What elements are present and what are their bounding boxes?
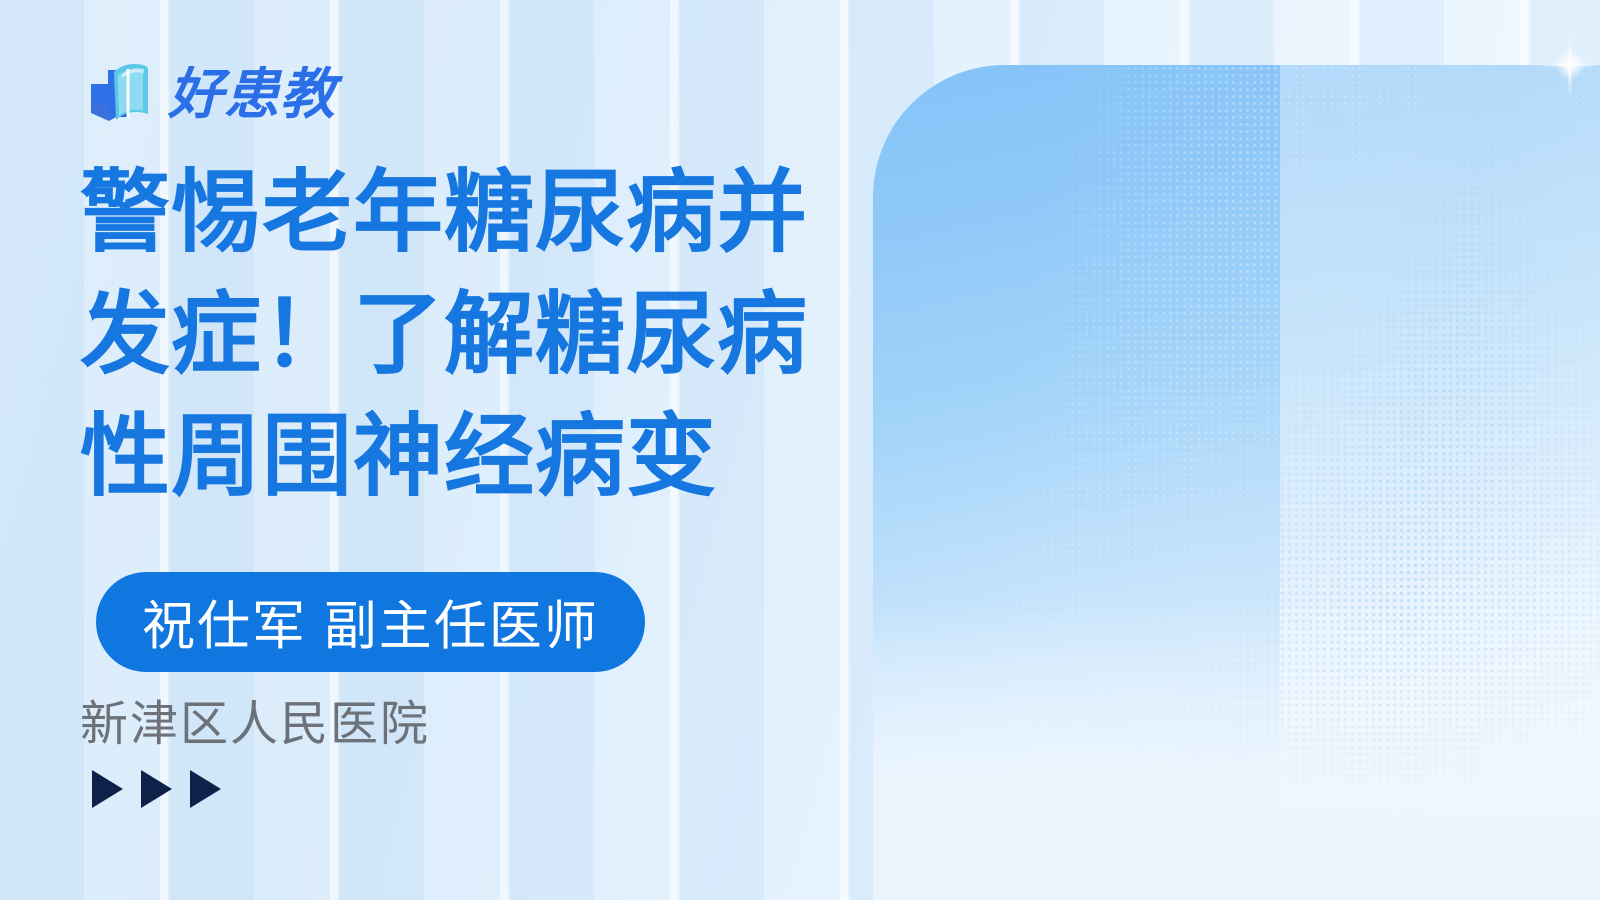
play-arrow-3-icon — [190, 770, 221, 808]
brand-lockup[interactable]: 好患教 — [88, 56, 336, 132]
play-arrows-group — [92, 770, 221, 808]
speaker-badge-label: 祝仕军 副主任医师 — [142, 584, 599, 660]
brand-name: 好患教 — [168, 67, 336, 122]
play-arrow-2-icon — [141, 770, 172, 808]
page-title-line-3: 性周围神经病变 — [80, 396, 880, 518]
speaker-badge[interactable]: 祝仕军 副主任医师 — [96, 572, 645, 672]
medical-cross-book-icon — [88, 56, 156, 132]
decorative-blue-panel — [873, 65, 1600, 900]
content-column: 好患教 警惕老年糖尿病并 发症！了解糖尿病 性周围神经病变 祝仕军 副主任医师 … — [0, 0, 900, 900]
page-title-line-1: 警惕老年糖尿病并 — [80, 152, 880, 274]
hospital-name: 新津区人民医院 — [80, 684, 430, 754]
panel-bottom-fade — [873, 600, 1600, 900]
play-arrow-1-icon — [92, 770, 123, 808]
poster-canvas: 好患教 警惕老年糖尿病并 发症！了解糖尿病 性周围神经病变 祝仕军 副主任医师 … — [0, 0, 1600, 900]
page-title-line-2: 发症！了解糖尿病 — [80, 274, 880, 396]
page-title: 警惕老年糖尿病并 发症！了解糖尿病 性周围神经病变 — [80, 152, 880, 518]
